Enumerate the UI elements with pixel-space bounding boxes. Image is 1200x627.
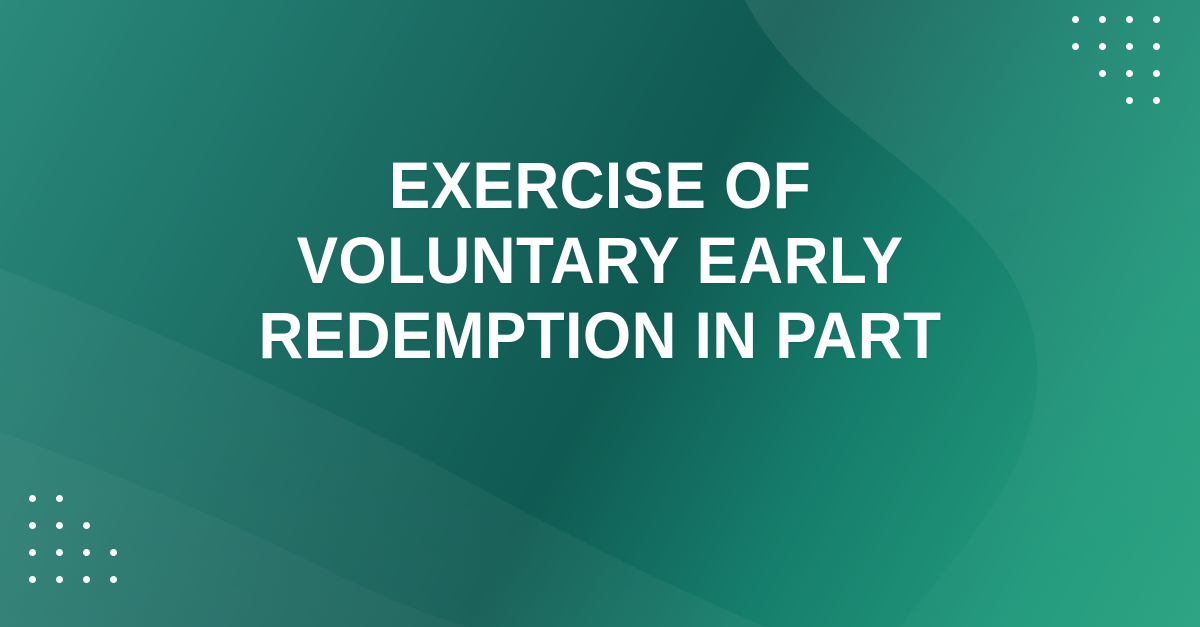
decorative-dot xyxy=(1153,97,1180,124)
title-line-3: REDEMPTION IN PART xyxy=(36,298,1164,373)
promo-banner: EXERCISE OF VOLUNTARY EARLY REDEMPTION I… xyxy=(0,0,1200,627)
decorative-dot xyxy=(1072,43,1099,70)
decorative-dot xyxy=(29,576,56,603)
dot-gap xyxy=(83,495,110,522)
decorative-dot xyxy=(56,549,83,576)
decorative-dot xyxy=(1153,70,1180,97)
dot-pattern-top-right xyxy=(1072,16,1180,124)
decorative-dot xyxy=(110,549,137,576)
decorative-dot xyxy=(83,549,110,576)
dot-gap xyxy=(1072,70,1099,97)
decorative-dot xyxy=(56,495,83,522)
decorative-dot xyxy=(1126,43,1153,70)
decorative-dot xyxy=(1099,16,1126,43)
decorative-dot xyxy=(29,549,56,576)
decorative-dot xyxy=(1126,16,1153,43)
decorative-dot xyxy=(1153,16,1180,43)
dot-gap xyxy=(1099,97,1126,124)
dot-gap xyxy=(110,522,137,549)
decorative-dot xyxy=(1153,43,1180,70)
decorative-dot xyxy=(1099,43,1126,70)
decorative-dot xyxy=(29,495,56,522)
decorative-dot xyxy=(1126,70,1153,97)
decorative-dot xyxy=(110,576,137,603)
decorative-dot xyxy=(83,576,110,603)
title-line-2: VOLUNTARY EARLY xyxy=(36,223,1164,298)
decorative-dot xyxy=(29,522,56,549)
banner-title: EXERCISE OF VOLUNTARY EARLY REDEMPTION I… xyxy=(0,148,1200,373)
dot-gap xyxy=(110,495,137,522)
decorative-dot xyxy=(1099,70,1126,97)
dot-gap xyxy=(1072,97,1099,124)
dot-pattern-bottom-left xyxy=(29,495,137,603)
decorative-dot xyxy=(1126,97,1153,124)
decorative-dot xyxy=(1072,16,1099,43)
decorative-dot xyxy=(56,522,83,549)
title-line-1: EXERCISE OF xyxy=(36,148,1164,223)
decorative-dot xyxy=(56,576,83,603)
decorative-dot xyxy=(83,522,110,549)
